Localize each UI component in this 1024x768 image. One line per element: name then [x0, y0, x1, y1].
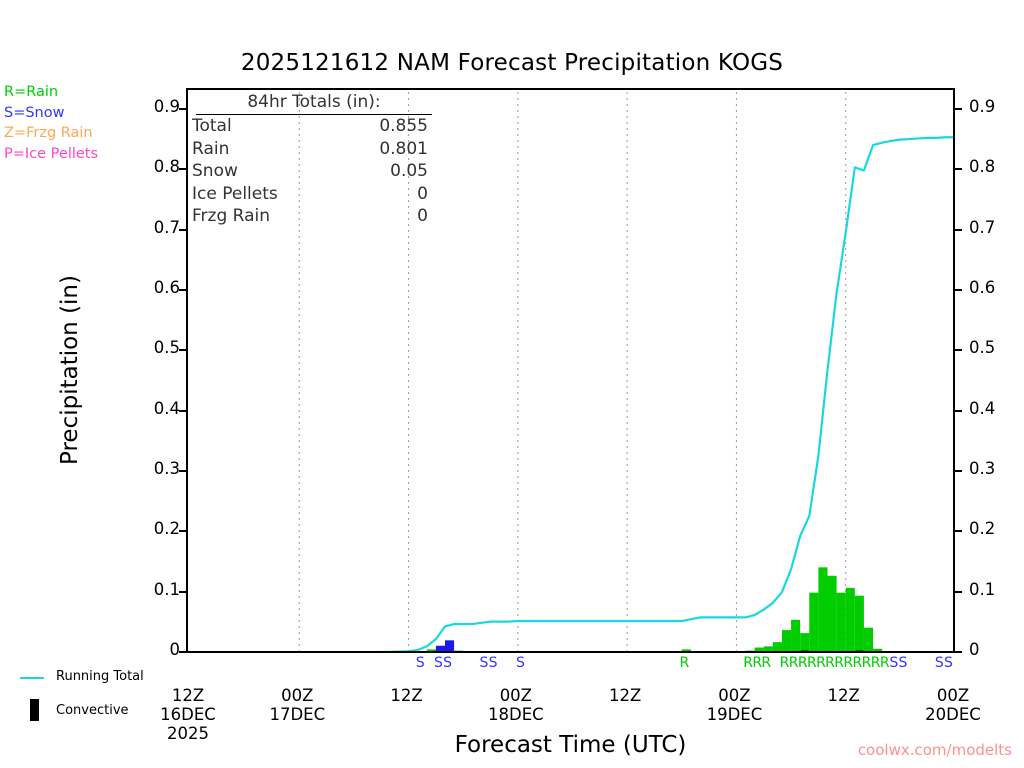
precip-bar [846, 588, 855, 651]
watermark: coolwx.com/modelts [858, 741, 1012, 759]
ptype-marker-s: S [889, 655, 898, 671]
ptype-marker-r: R [761, 655, 771, 671]
totals-row-value: 0 [192, 205, 428, 228]
y-tick-label-left: 0.3 [138, 459, 180, 478]
y-tick-label-left: 0.1 [138, 580, 180, 599]
y-tick-mark-right [955, 229, 962, 231]
y-tick-label-left: 0.9 [138, 97, 180, 116]
precip-bar [445, 640, 454, 651]
y-tick-label-right: 0.7 [969, 218, 1015, 237]
y-tick-mark-right [955, 289, 962, 291]
precip-bar [855, 596, 864, 651]
ptype-marker-s: S [443, 655, 452, 671]
x-tick-time: 00Z [707, 686, 763, 705]
x-tick-time: 12Z [828, 686, 860, 705]
ptype-marker-s: S [480, 655, 489, 671]
x-tick-time: 00Z [925, 686, 981, 705]
y-tick-label-right: 0.9 [969, 97, 1015, 116]
y-tick-label-right: 0.8 [969, 157, 1015, 176]
y-tick-label-right: 0.2 [969, 519, 1015, 538]
y-tick-mark-right [955, 168, 962, 170]
precip-bar [828, 576, 837, 651]
running-total-line-icon [20, 677, 44, 679]
totals-row: Snow0.05 [192, 160, 440, 183]
y-tick-label-left: 0 [138, 640, 180, 659]
y-tick-mark-left [179, 410, 186, 412]
y-tick-mark-right [955, 410, 962, 412]
y-tick-mark-right [955, 530, 962, 532]
totals-row: Ice Pellets0 [192, 183, 440, 206]
ptype-marker-s: S [935, 655, 944, 671]
y-tick-mark-left [179, 108, 186, 110]
y-tick-mark-left [179, 168, 186, 170]
precip-bar [764, 646, 773, 651]
page-title: 2025121612 NAM Forecast Precipitation KO… [0, 50, 1024, 76]
precip-bar [682, 649, 691, 651]
ptype-legend: R=RainS=SnowZ=Frzg RainP=Ice Pellets [4, 82, 98, 164]
precip-bar [782, 630, 791, 651]
y-axis-label-text: Precipitation (in) [57, 275, 83, 465]
x-tick-label: 00Z17DEC [269, 686, 325, 724]
y-tick-mark-left [179, 289, 186, 291]
x-tick-time: 00Z [269, 686, 325, 705]
y-tick-label-right: 0.1 [969, 580, 1015, 599]
ptype-marker-s: S [416, 655, 425, 671]
x-tick-date: 18DEC [488, 705, 544, 724]
ptype-legend-item-2: Z=Frzg Rain [4, 123, 98, 144]
x-tick-date: 17DEC [269, 705, 325, 724]
precip-bar [864, 628, 873, 651]
totals-box: 84hr Totals (in): Total0.855Rain0.801Sno… [192, 92, 440, 228]
y-tick-label-left: 0.7 [138, 218, 180, 237]
y-tick-label-right: 0 [969, 640, 1015, 659]
precip-bar [809, 593, 818, 651]
x-tick-time: 12Z [390, 686, 422, 705]
y-tick-label-right: 0.5 [969, 338, 1015, 357]
y-tick-label-left: 0.4 [138, 399, 180, 418]
x-tick-date: 19DEC [707, 705, 763, 724]
y-tick-mark-right [955, 108, 962, 110]
precip-bar [800, 633, 809, 651]
precip-bar [773, 642, 782, 651]
totals-row: Total0.855 [192, 115, 440, 138]
x-tick-label: 12Z [828, 686, 860, 705]
y-tick-mark-right [955, 349, 962, 351]
x-tick-label: 12Z [609, 686, 641, 705]
x-tick-label: 12Z [390, 686, 422, 705]
precip-bar [818, 567, 827, 651]
y-tick-label-right: 0.4 [969, 399, 1015, 418]
y-tick-mark-right [955, 651, 962, 653]
precip-bar [873, 649, 882, 651]
precip-bar [837, 593, 846, 651]
ptype-marker-s: S [489, 655, 498, 671]
x-tick-label: 00Z18DEC [488, 686, 544, 724]
y-tick-mark-left [179, 229, 186, 231]
legend-item-convective: Convective [12, 698, 182, 724]
y-tick-label-left: 0.2 [138, 519, 180, 538]
y-tick-label-right: 0.6 [969, 278, 1015, 297]
legend-label-running-total: Running Total [56, 669, 144, 684]
totals-row-value: 0.801 [192, 138, 428, 161]
y-tick-label-left: 0.6 [138, 278, 180, 297]
y-tick-mark-left [179, 651, 186, 653]
precip-bar [755, 648, 764, 651]
ptype-marker-s: S [516, 655, 525, 671]
totals-row-value: 0 [192, 183, 428, 206]
y-tick-mark-right [955, 470, 962, 472]
y-tick-mark-left [179, 591, 186, 593]
legend-item-running-total: Running Total [12, 668, 182, 688]
x-tick-label: 00Z19DEC [707, 686, 763, 724]
ptype-legend-item-3: P=Ice Pellets [4, 144, 98, 165]
y-tick-label-right: 0.3 [969, 459, 1015, 478]
ptype-marker-s: S [944, 655, 953, 671]
ptype-marker-s: S [898, 655, 907, 671]
convective-bar-icon [30, 699, 39, 721]
x-tick-time: 12Z [609, 686, 641, 705]
y-tick-mark-left [179, 470, 186, 472]
x-tick-label: 00Z20DEC [925, 686, 981, 724]
totals-row: Frzg Rain0 [192, 205, 440, 228]
ptype-legend-item-1: S=Snow [4, 103, 98, 124]
totals-row: Rain0.801 [192, 138, 440, 161]
x-tick-date: 20DEC [925, 705, 981, 724]
totals-rows: Total0.855Rain0.801Snow0.05Ice Pellets0F… [192, 115, 440, 228]
precip-bar [791, 620, 800, 651]
precip-bar [427, 649, 436, 651]
y-tick-mark-left [179, 530, 186, 532]
x-axis-title: Forecast Time (UTC) [186, 732, 955, 758]
ptype-marker-r: R [880, 655, 890, 671]
totals-header: 84hr Totals (in): [196, 92, 432, 115]
y-tick-mark-left [179, 349, 186, 351]
y-tick-label-left: 0.5 [138, 338, 180, 357]
ptype-marker-row: SSSSSSRRRRRRRRRRRRRRRRSSSS [186, 655, 955, 673]
y-tick-label-left: 0.8 [138, 157, 180, 176]
legend-label-convective: Convective [56, 703, 129, 718]
ptype-marker-r: R [679, 655, 689, 671]
ptype-marker-s: S [434, 655, 443, 671]
totals-row-value: 0.05 [192, 160, 428, 183]
totals-row-value: 0.855 [192, 115, 428, 138]
ptype-legend-item-0: R=Rain [4, 82, 98, 103]
x-tick-time: 00Z [488, 686, 544, 705]
y-tick-mark-right [955, 591, 962, 593]
chart-page: 2025121612 NAM Forecast Precipitation KO… [0, 0, 1024, 768]
precip-bar [436, 646, 445, 651]
